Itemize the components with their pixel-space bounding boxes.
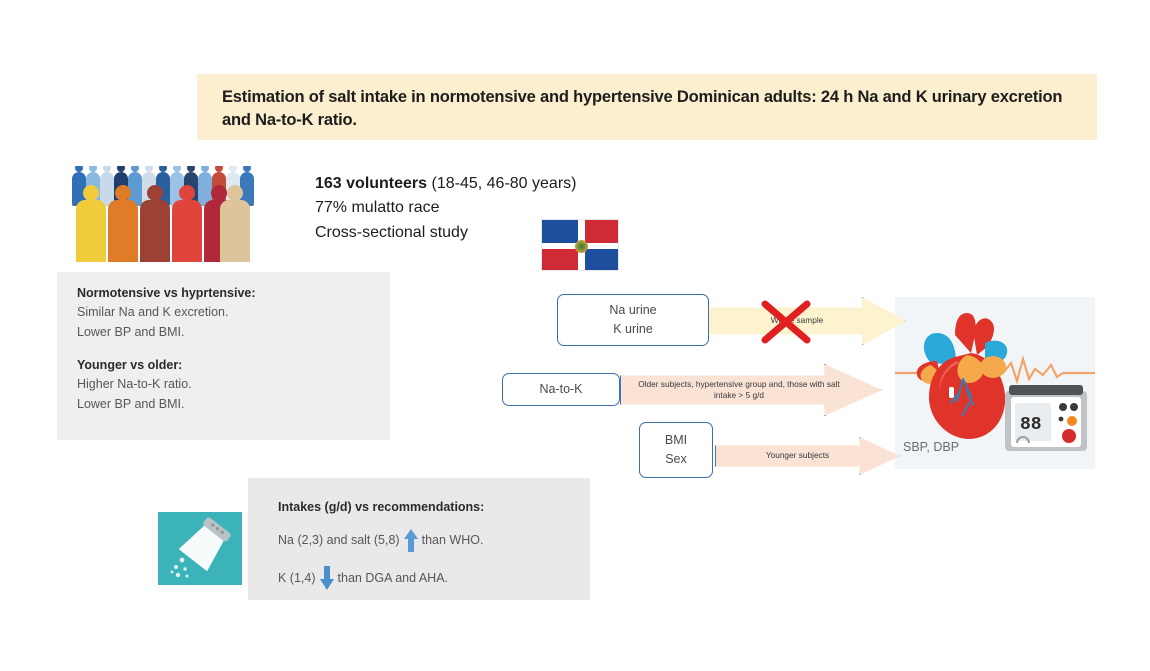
older-subjects-arrow: Older subjects, hypertensive group and, …	[620, 364, 882, 416]
younger-line-1: Higher Na-to-K ratio.	[77, 374, 374, 394]
age-groups: (18-45, 46-80 years)	[427, 175, 576, 192]
urine-measures-box: Na urine K urine	[557, 294, 709, 346]
study-design-line: Cross-sectional study	[315, 221, 576, 245]
race-line: 77% mulatto race	[315, 196, 576, 220]
potassium-value: K (1,4)	[278, 571, 316, 585]
person-figure	[172, 200, 202, 262]
intakes-vs-recommendations-box: Intakes (g/d) vs recommendations: Na (2,…	[248, 478, 590, 600]
sex-label: Sex	[665, 450, 687, 469]
younger-subjects-arrow: Younger subjects	[715, 437, 900, 475]
blood-pressure-monitor-icon: 88	[1003, 383, 1089, 455]
sbp-dbp-label: SBP, DBP	[903, 440, 959, 454]
sodium-salt-values: Na (2,3) and salt (5,8)	[278, 533, 400, 547]
population-summary: 163 volunteers (18-45, 46-80 years) 77% …	[315, 172, 576, 245]
bmi-sex-box: BMI Sex	[639, 422, 713, 478]
intakes-heading: Intakes (g/d) vs recommendations:	[278, 500, 580, 514]
whole-sample-arrow: Whole sample	[706, 297, 906, 345]
spacer	[77, 343, 374, 358]
person-figure	[108, 200, 138, 262]
crowd-of-people-icon	[70, 166, 254, 262]
normotensive-line-1: Similar Na and K excretion.	[77, 302, 374, 322]
comparison-results-box: Normotensive vs hyprtensive: Similar Na …	[57, 272, 390, 440]
title-banner: Estimation of salt intake in normotensiv…	[197, 74, 1097, 140]
person-figure	[140, 200, 170, 262]
up-arrow-icon	[403, 527, 419, 553]
na-urine-label: Na urine	[609, 301, 656, 320]
person-figure	[220, 200, 250, 262]
sodium-salt-intake-line: Na (2,3) and salt (5,8) than WHO.	[278, 527, 580, 553]
younger-subjects-label: Younger subjects	[766, 450, 829, 461]
younger-vs-older-heading: Younger vs older:	[77, 358, 374, 372]
whole-sample-label: Whole sample	[771, 315, 824, 326]
k-urine-label: K urine	[613, 320, 653, 339]
down-arrow-icon	[319, 565, 335, 591]
normotensive-vs-hypertensive-heading: Normotensive vs hyprtensive:	[77, 286, 374, 300]
dga-aha-reference: than DGA and AHA.	[338, 571, 449, 585]
normotensive-line-2: Lower BP and BMI.	[77, 322, 374, 342]
dominican-republic-flag-icon	[541, 219, 619, 271]
bmi-label: BMI	[665, 431, 687, 450]
older-subjects-label: Older subjects, hypertensive group and, …	[631, 379, 847, 401]
na-to-k-box: Na-to-K	[502, 373, 620, 406]
page-title: Estimation of salt intake in normotensiv…	[222, 86, 1081, 132]
person-figure	[76, 200, 106, 262]
svg-text:88: 88	[1020, 415, 1042, 435]
volunteers-line: 163 volunteers (18-45, 46-80 years)	[315, 172, 576, 196]
younger-line-2: Lower BP and BMI.	[77, 394, 374, 414]
who-reference: than WHO.	[422, 533, 484, 547]
na-to-k-label: Na-to-K	[539, 380, 582, 399]
potassium-intake-line: K (1,4) than DGA and AHA.	[278, 565, 580, 591]
volunteers-count: 163 volunteers	[315, 175, 427, 192]
salt-shaker-icon	[158, 512, 242, 585]
